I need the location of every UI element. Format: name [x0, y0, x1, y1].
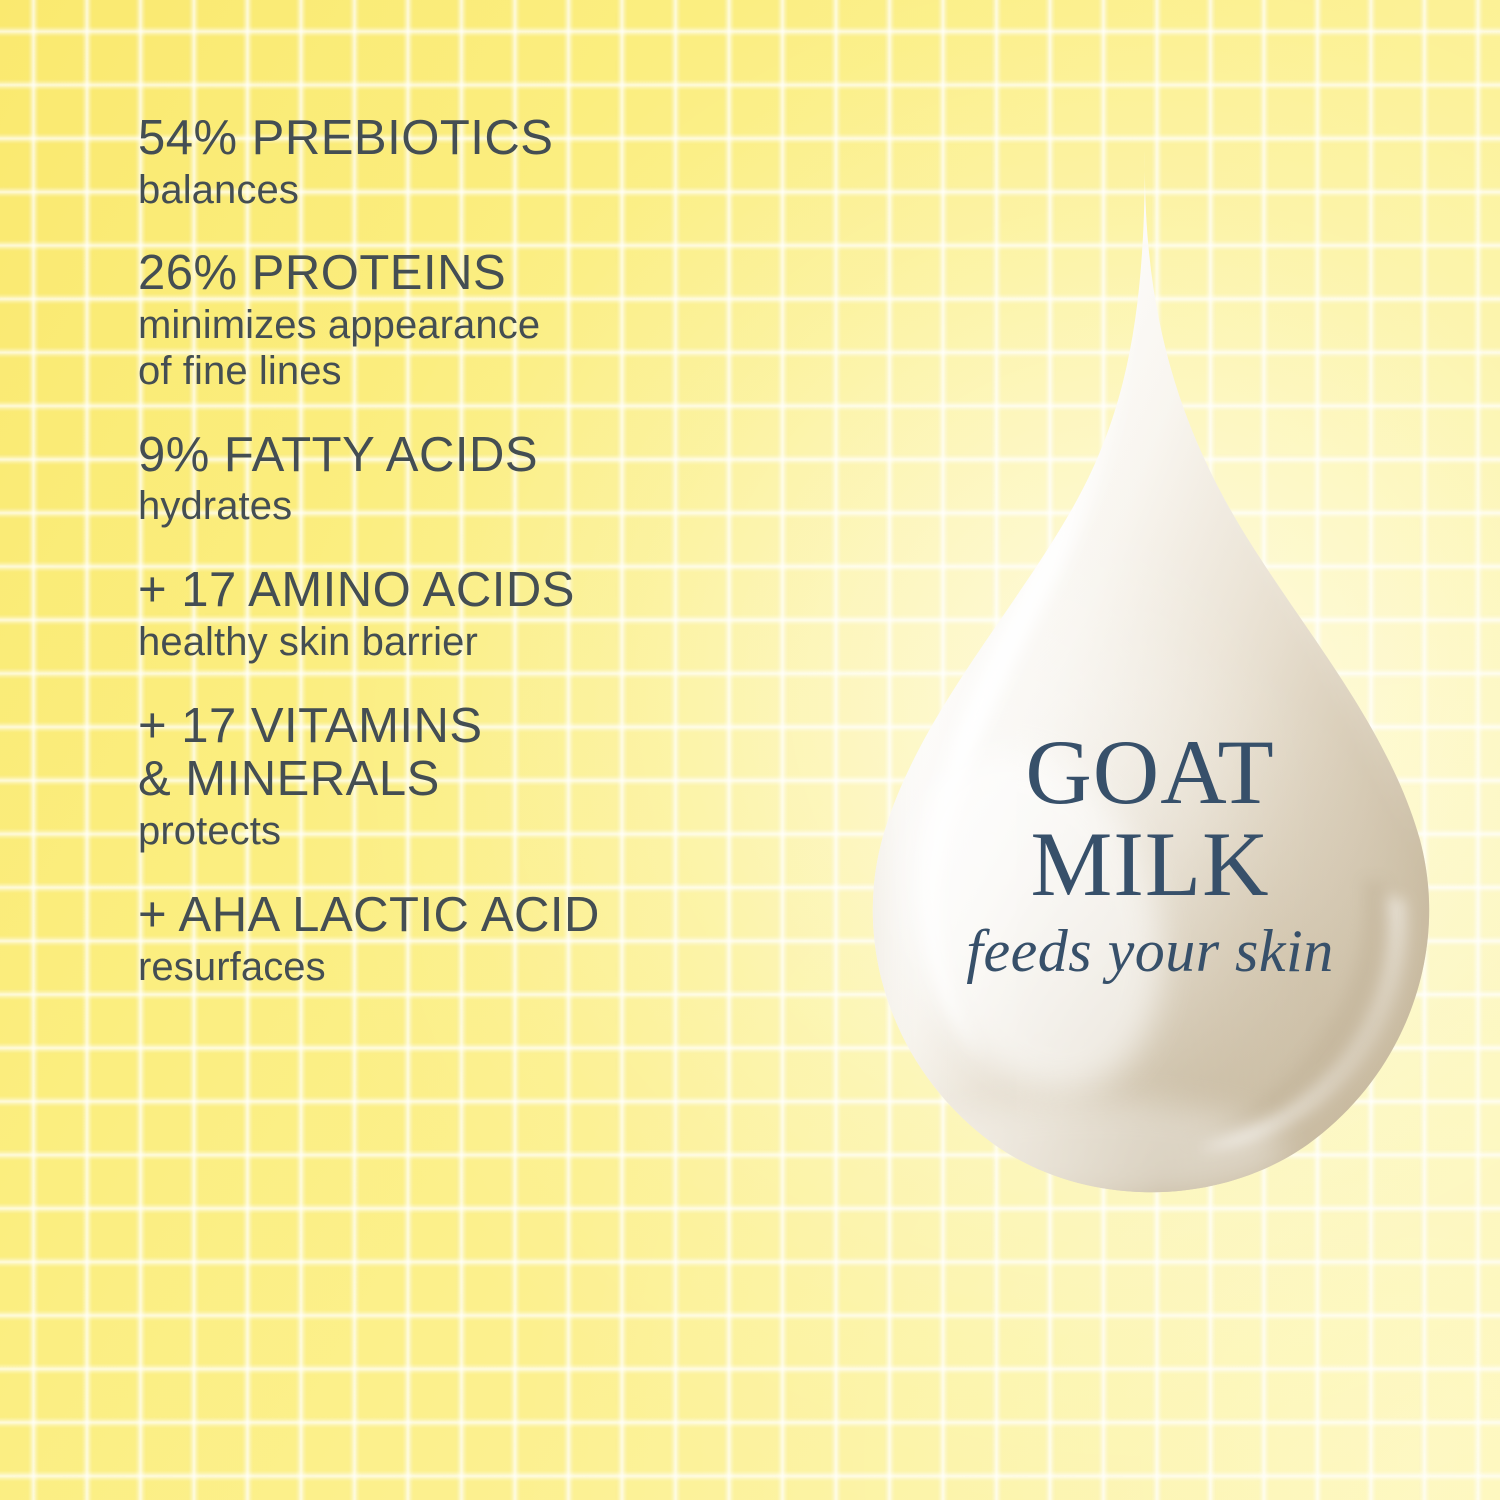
droplet-bottom-bounce	[905, 1100, 1285, 1200]
benefit-description: resurfaces	[138, 945, 838, 991]
benefit-item-amino-acids: + 17 AMINO ACIDS healthy skin barrier	[138, 564, 838, 665]
benefit-title: 54% PREBIOTICS	[138, 112, 838, 166]
benefit-title: + AHA LACTIC ACID	[138, 889, 838, 943]
brand-word-goat: GOAT	[845, 730, 1455, 816]
benefit-description: protects	[138, 809, 838, 855]
milk-droplet-icon	[845, 140, 1455, 1210]
benefit-description: hydrates	[138, 484, 838, 530]
benefit-item-aha-lactic-acid: + AHA LACTIC ACID resurfaces	[138, 889, 838, 990]
brand-word-milk: MILK	[845, 822, 1455, 908]
poster-canvas: 54% PREBIOTICS balances 26% PROTEINS min…	[0, 0, 1500, 1500]
benefit-item-vitamins-minerals: + 17 VITAMINS & MINERALS protects	[138, 700, 838, 855]
droplet-label-block: GOAT MILK feeds your skin	[845, 730, 1455, 981]
benefit-title: + 17 AMINO ACIDS	[138, 564, 838, 618]
benefit-item-fatty-acids: 9% FATTY ACIDS hydrates	[138, 429, 838, 530]
benefit-description: minimizes appearance of fine lines	[138, 303, 838, 394]
benefit-description: healthy skin barrier	[138, 620, 838, 666]
benefit-item-prebiotics: 54% PREBIOTICS balances	[138, 112, 838, 213]
brand-tagline: feeds your skin	[845, 921, 1455, 981]
benefit-title: 9% FATTY ACIDS	[138, 429, 838, 483]
milk-droplet-graphic: GOAT MILK feeds your skin	[845, 140, 1455, 1210]
benefit-item-proteins: 26% PROTEINS minimizes appearance of fin…	[138, 247, 838, 394]
benefits-list: 54% PREBIOTICS balances 26% PROTEINS min…	[138, 112, 838, 990]
benefit-description: balances	[138, 168, 838, 214]
benefit-title: + 17 VITAMINS & MINERALS	[138, 700, 838, 808]
benefit-title: 26% PROTEINS	[138, 247, 838, 301]
